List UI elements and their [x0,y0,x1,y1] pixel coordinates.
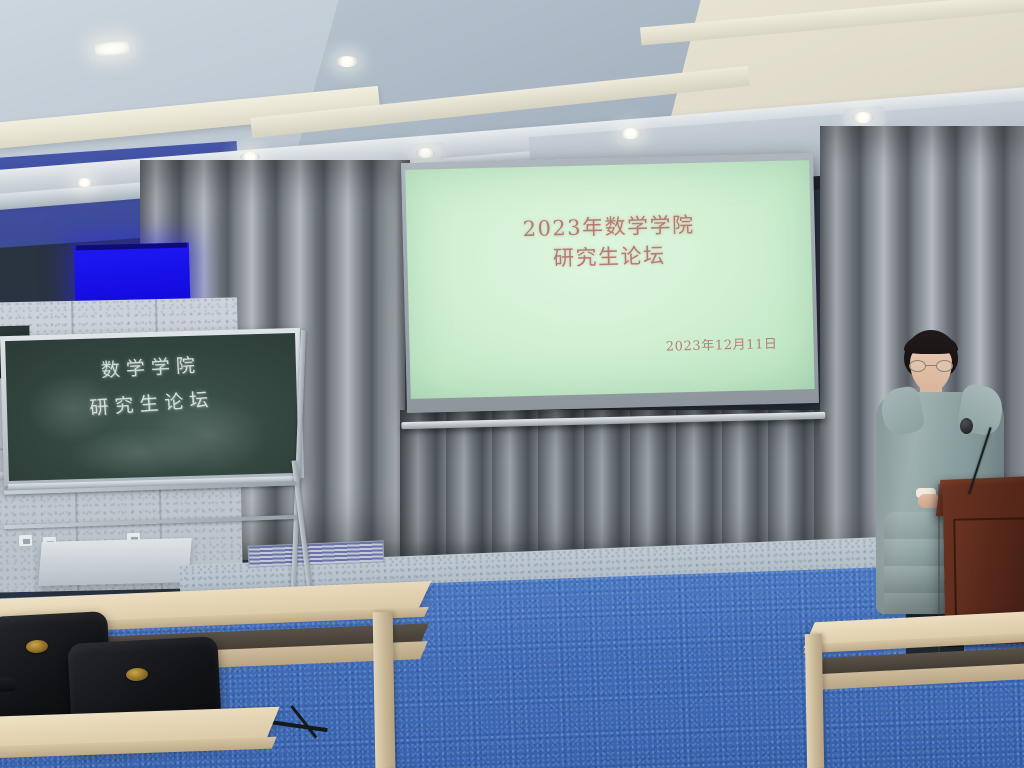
slide-date: 2023年12月11日 [666,333,778,355]
wall-outlet-1[interactable] [18,534,33,548]
downlight-4-icon [76,178,93,187]
downlight-5-icon [416,148,435,158]
projection-screen-surface: 2023年数学学院 研究生论坛 2023年12月11日 [405,160,814,399]
slide-title: 2023年数学学院 研究生论坛 [406,208,811,277]
blue-panel-top-bar [76,243,187,251]
blackboard-frame: 数学学院 研究生论坛 [0,328,304,486]
downlight-6-icon [620,128,641,139]
projection-screen-frame: 2023年数学学院 研究生论坛 2023年12月11日 [401,153,819,413]
wall-counter-ledge [38,538,191,586]
projection-screen[interactable]: 2023年数学学院 研究生论坛 2023年12月11日 [401,153,819,413]
microphone-icon [960,418,973,434]
downlight-7-icon [852,112,874,123]
blackboard-surface: 数学学院 研究生论坛 [5,333,299,481]
mobile-blackboard[interactable]: 数学学院 研究生论坛 [0,328,304,486]
downlight-2-icon [336,56,358,67]
glasses-icon [909,360,953,372]
lecture-hall-scene: 2023年数学学院 研究生论坛 2023年12月11日 数学学院 研究生论坛 [0,0,1024,768]
